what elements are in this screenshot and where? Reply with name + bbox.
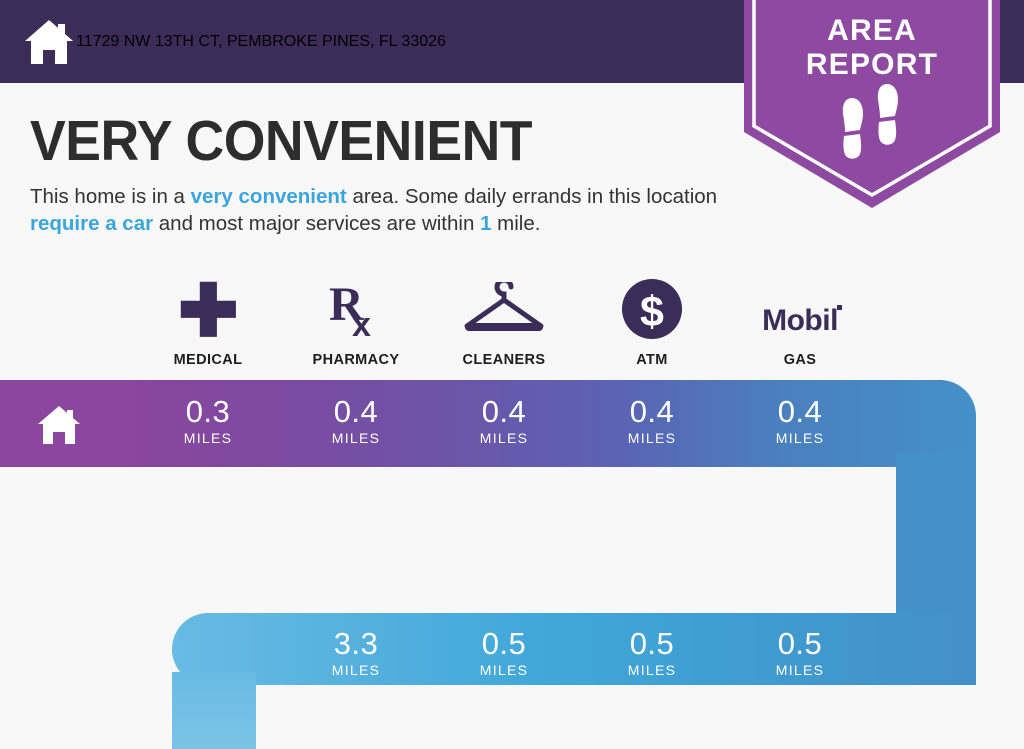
summary-part4: mile. <box>491 212 540 235</box>
summary-part2: area. Some daily errands in this locatio… <box>347 185 717 208</box>
page-title: VERY CONVENIENT <box>30 113 532 170</box>
svg-text:Mobil: Mobil <box>762 304 838 337</box>
amenity-label: ATM <box>636 352 668 368</box>
distance-ribbon <box>0 372 1024 749</box>
area-report-badge: AREA REPORT <box>744 0 1000 208</box>
svg-text:$: $ <box>640 288 664 336</box>
amenity-atm: $ ATM <box>578 278 726 368</box>
amenity-medical: MEDICAL <box>134 278 282 368</box>
summary-highlight-car: require a car <box>30 212 153 235</box>
mobil-logo-icon: Mobil <box>745 278 855 340</box>
summary-part3: and most major services are within <box>153 212 480 235</box>
home-icon <box>22 17 76 67</box>
prescription-rx-icon: R x <box>325 278 387 340</box>
dollar-circle-icon: $ <box>621 278 683 340</box>
medical-cross-icon <box>177 278 239 340</box>
home-icon <box>36 404 82 446</box>
amenity-label: MEDICAL <box>174 352 243 368</box>
amenity-pharmacy: R x PHARMACY <box>282 278 430 368</box>
amenity-icon-row-1: MEDICAL R x PHARMACY CLEANERS $ ATM <box>0 278 1024 373</box>
summary-text: This home is in a very convenient area. … <box>30 183 760 237</box>
amenity-gas: Mobil GAS <box>726 278 874 368</box>
summary-highlight-miles: 1 <box>480 212 491 235</box>
amenity-label: CLEANERS <box>463 352 546 368</box>
amenity-label: PHARMACY <box>313 352 400 368</box>
summary-part1: This home is in a <box>30 185 191 208</box>
clothes-hanger-icon <box>461 278 547 340</box>
amenity-cleaners: CLEANERS <box>430 278 578 368</box>
header-address: 11729 NW 13TH CT, PEMBROKE PINES, FL 330… <box>76 33 446 51</box>
svg-text:x: x <box>352 306 371 340</box>
summary-highlight-convenience: very convenient <box>191 185 347 208</box>
badge-line1: AREA <box>827 14 917 47</box>
badge-line2: REPORT <box>806 48 938 81</box>
amenity-label: GAS <box>784 352 817 368</box>
